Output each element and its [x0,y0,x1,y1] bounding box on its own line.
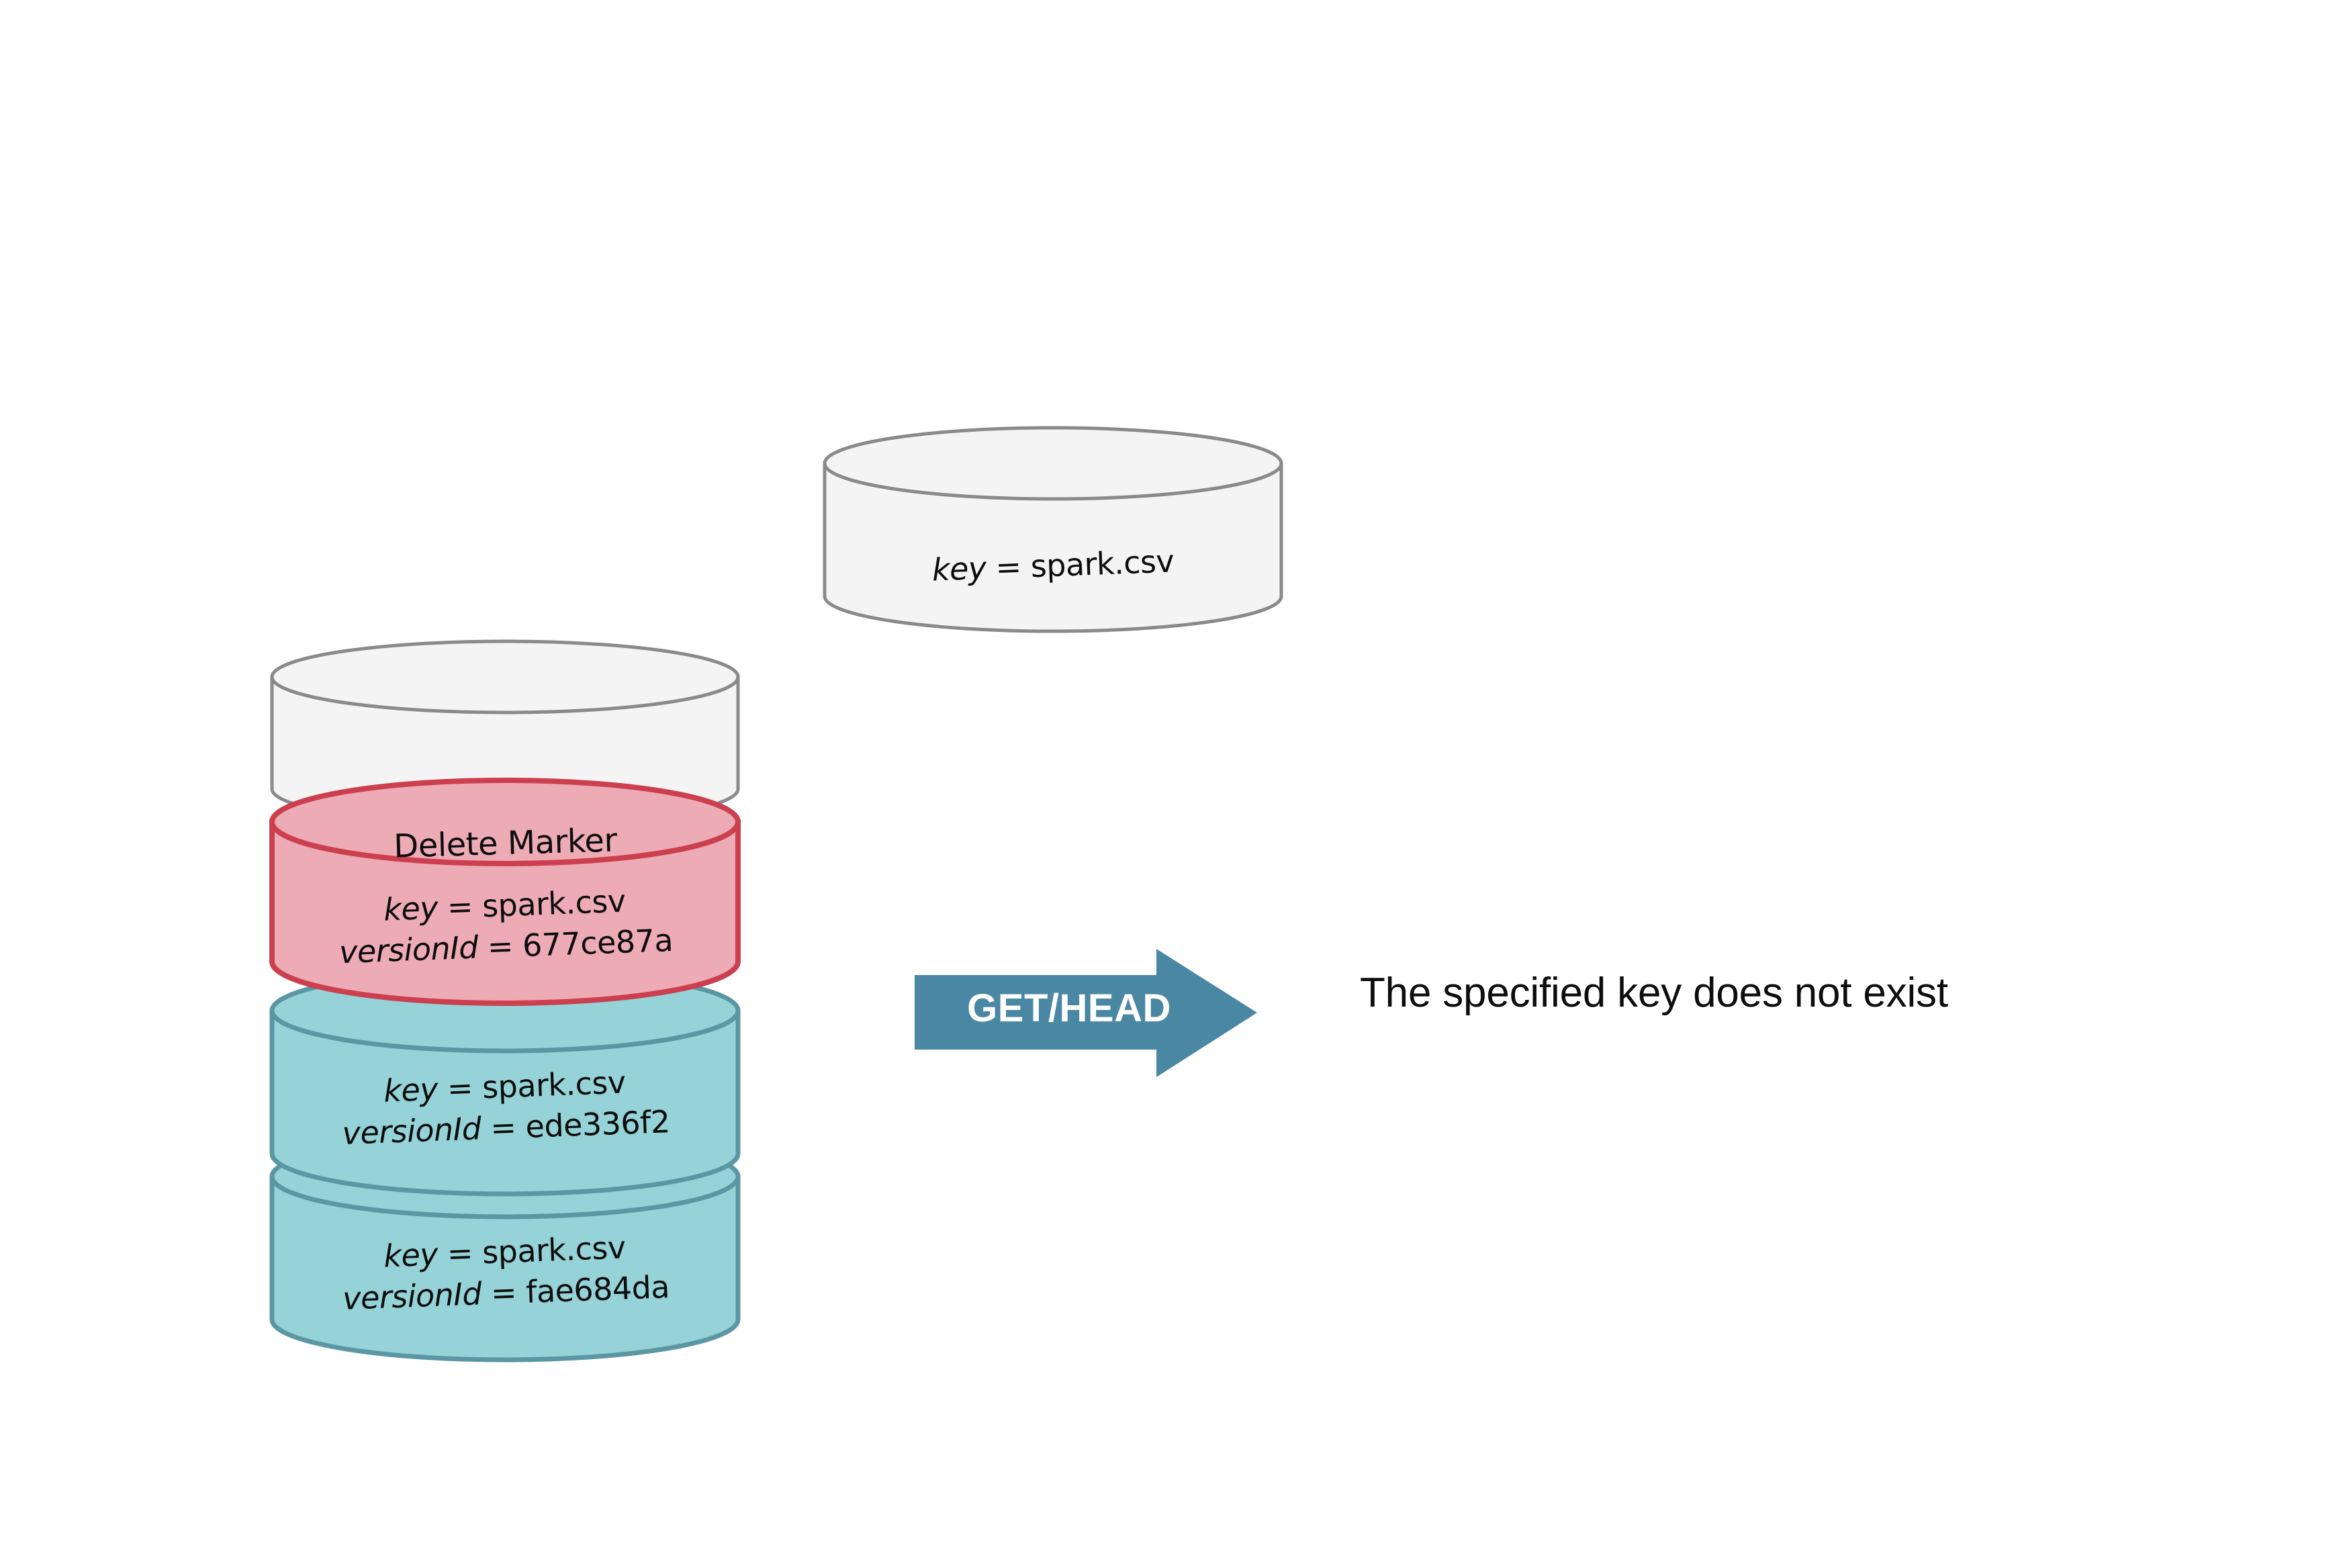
version-prefix: versionId [342,1110,482,1152]
shapes-layer [0,0,2343,1568]
diagram-canvas: key = spark.csv Delete Marker key = spar… [0,0,2343,1568]
error-response-message: The specified key does not exist [1360,969,1948,1017]
empty-bucket-top-ellipse [272,641,738,712]
delete-marker-details: key = spark.csv versionId = 677ce87a [271,876,740,975]
key-prefix: key [383,890,439,928]
version-prefix: versionId [342,1275,482,1317]
version-separator: = [477,927,523,965]
requested-object-key-value: spark.csv [1030,543,1175,584]
key-value: spark.csv [481,882,626,924]
version-value: ede336f2 [525,1103,671,1145]
request-arrow-label[interactable]: GET/HEAD [915,986,1224,1031]
key-separator: = [437,888,483,925]
requested-object-key-prefix: key [931,550,987,588]
key-separator: = [437,1069,483,1107]
key-prefix: key [383,1236,439,1275]
key-prefix: key [383,1071,439,1109]
requested-object-top-ellipse [825,428,1281,499]
requested-object-cylinder [825,428,1281,631]
key-value: spark.csv [481,1064,626,1105]
version-ede336f2-details: key = spark.csv versionId = ede336f2 [271,1058,740,1156]
version-fae684da-details: key = spark.csv versionId = fae684da [271,1223,740,1322]
version-value: fae684da [525,1269,670,1310]
version-separator: = [481,1274,526,1311]
version-separator: = [480,1109,526,1146]
requested-object-key-separator: = [985,548,1031,586]
key-value: spark.csv [481,1229,626,1271]
key-separator: = [437,1234,483,1272]
version-value: 677ce87a [522,922,674,964]
version-prefix: versionId [338,929,479,970]
